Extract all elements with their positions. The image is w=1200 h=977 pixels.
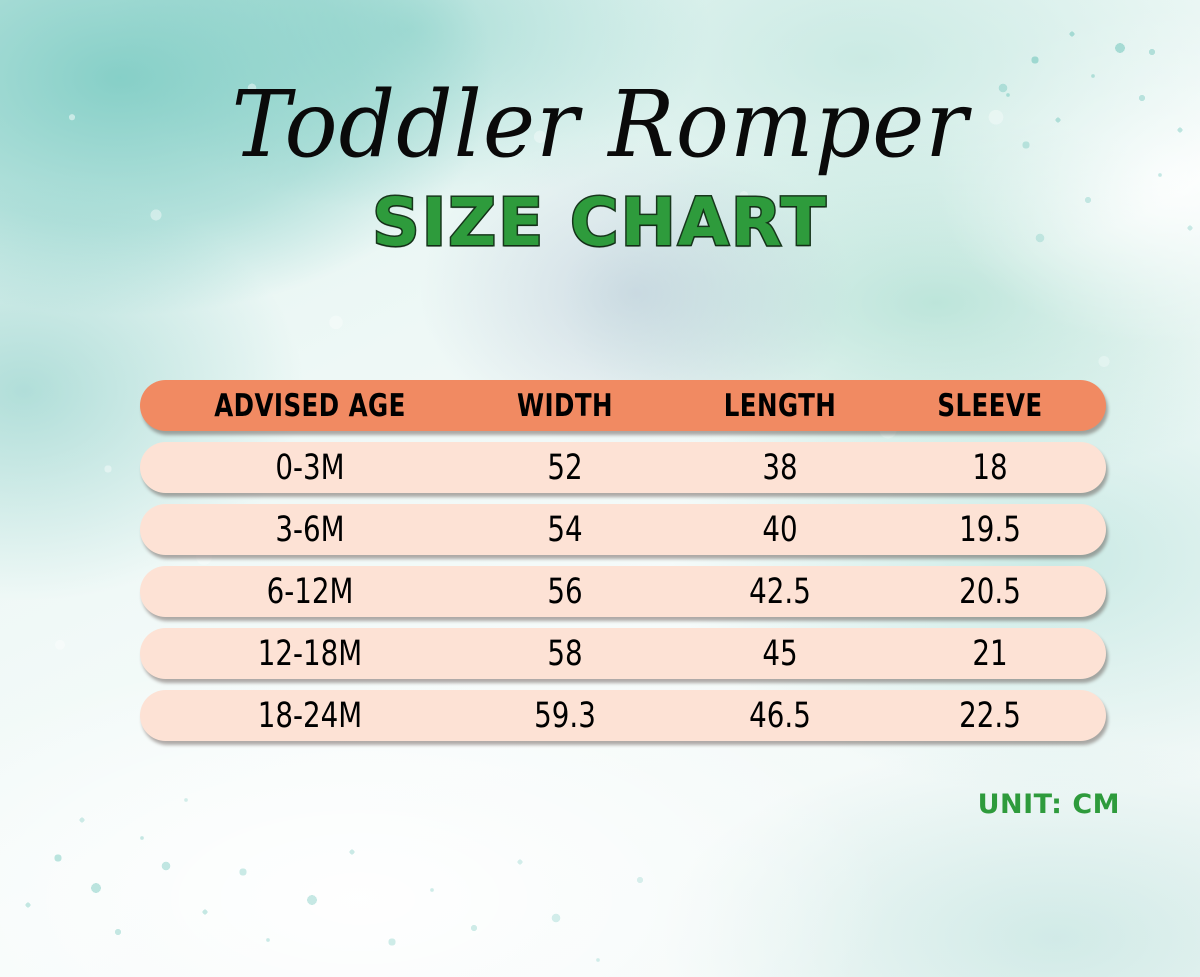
cell-age: 12-18M [178, 634, 442, 674]
cell-length: 46.5 [683, 696, 877, 736]
cell-age: 0-3M [178, 448, 442, 488]
column-header-sleeve: SLEEVE [902, 388, 1078, 424]
cell-width: 59.3 [473, 696, 658, 736]
cell-width: 52 [473, 448, 658, 488]
cell-sleeve: 20.5 [902, 572, 1078, 612]
unit-note: UNIT: CM [0, 789, 1120, 820]
page-title: Toddler Romper [24, 0, 1176, 172]
title-block: Toddler Romper SIZE CHART [0, 0, 1200, 256]
table-row: 3-6M 54 40 19.5 [140, 504, 1106, 555]
cell-age: 3-6M [178, 510, 442, 550]
cell-width: 58 [473, 634, 658, 674]
cell-sleeve: 22.5 [902, 696, 1078, 736]
cell-sleeve: 18 [902, 448, 1078, 488]
cell-length: 42.5 [683, 572, 877, 612]
cell-width: 54 [473, 510, 658, 550]
table-header-row: ADVISED AGE WIDTH LENGTH SLEEVE [140, 380, 1106, 431]
cell-age: 6-12M [178, 572, 442, 612]
column-header-advised-age: ADVISED AGE [178, 388, 442, 424]
cell-width: 56 [473, 572, 658, 612]
cell-length: 40 [683, 510, 877, 550]
page-subtitle: SIZE CHART [0, 190, 1200, 256]
size-chart-table: ADVISED AGE WIDTH LENGTH SLEEVE 0-3M 52 … [140, 380, 1106, 741]
cell-sleeve: 19.5 [902, 510, 1078, 550]
cell-length: 45 [683, 634, 877, 674]
cell-age: 18-24M [178, 696, 442, 736]
column-header-length: LENGTH [683, 388, 877, 424]
cell-sleeve: 21 [902, 634, 1078, 674]
table-row: 0-3M 52 38 18 [140, 442, 1106, 493]
table-row: 18-24M 59.3 46.5 22.5 [140, 690, 1106, 741]
cell-length: 38 [683, 448, 877, 488]
table-row: 12-18M 58 45 21 [140, 628, 1106, 679]
table-row: 6-12M 56 42.5 20.5 [140, 566, 1106, 617]
size-chart-poster: Toddler Romper SIZE CHART ADVISED AGE WI… [0, 0, 1200, 977]
column-header-width: WIDTH [473, 388, 658, 424]
